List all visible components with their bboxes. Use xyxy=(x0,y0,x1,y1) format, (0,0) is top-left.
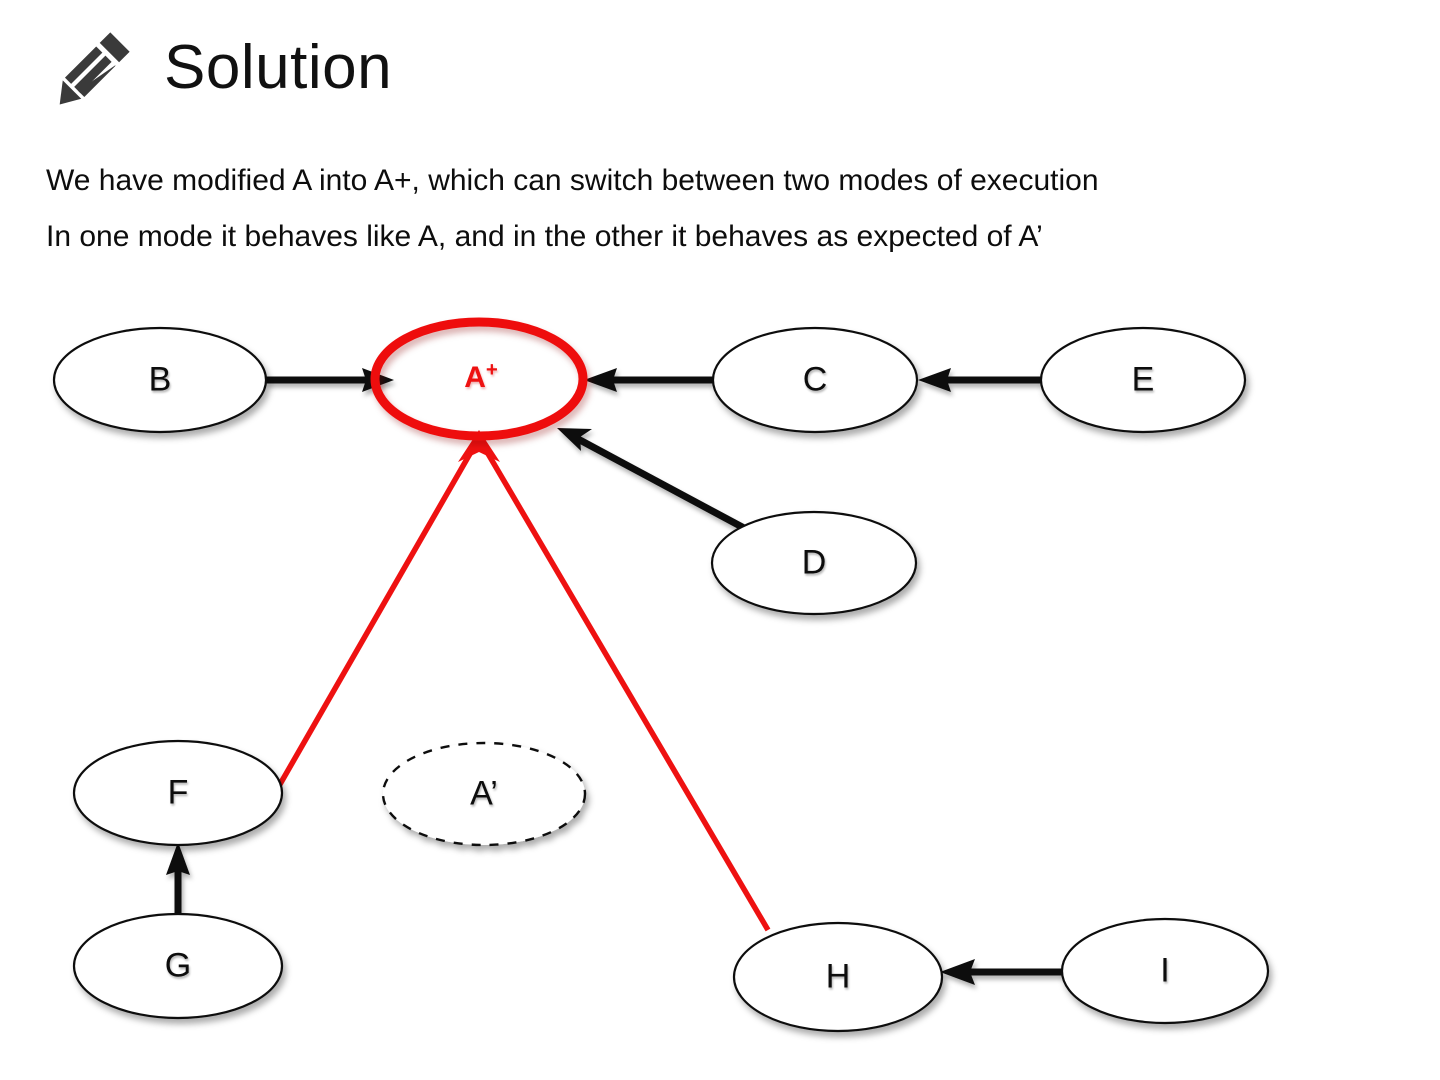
edge-group-black xyxy=(166,368,1062,985)
graph-diagram: B A+ C E D F A’ G H I xyxy=(0,0,1440,1080)
node-b[interactable] xyxy=(54,328,266,432)
edge-c-to-aplus xyxy=(584,368,713,392)
node-f[interactable] xyxy=(74,741,282,845)
edge-g-to-f xyxy=(166,842,190,916)
node-c[interactable] xyxy=(713,328,917,432)
node-h[interactable] xyxy=(734,923,942,1031)
edge-i-to-h xyxy=(940,959,1062,985)
node-g[interactable] xyxy=(74,914,282,1018)
node-i[interactable] xyxy=(1062,919,1268,1023)
edge-d-to-aplus xyxy=(557,428,744,528)
edge-h-to-aplus xyxy=(487,452,768,930)
node-group xyxy=(54,322,1268,1031)
node-a-plus[interactable] xyxy=(375,322,583,436)
slide-canvas: Solution We have modified A into A+, whi… xyxy=(0,0,1440,1080)
edge-f-to-aplus xyxy=(279,452,471,786)
diagram-svg xyxy=(0,0,1440,1080)
node-d[interactable] xyxy=(712,512,916,614)
node-a-prime[interactable] xyxy=(383,743,585,845)
node-e[interactable] xyxy=(1041,328,1245,432)
edge-e-to-c xyxy=(918,368,1041,392)
